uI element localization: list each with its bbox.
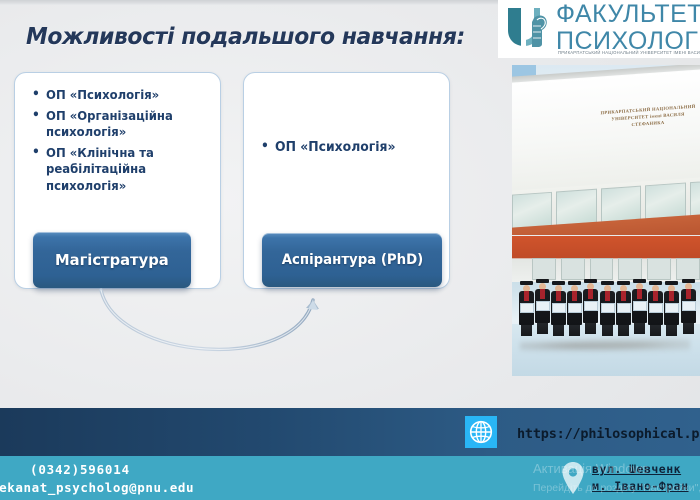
background-window	[647, 258, 671, 280]
graduate-stole	[621, 291, 626, 301]
building-window	[690, 179, 700, 216]
graduate-legs	[666, 325, 677, 336]
graduate-legs	[602, 325, 613, 336]
graduate-gown	[616, 291, 631, 325]
logo-wordmark: ФАКУЛЬТЕТ ПСИХОЛОГІЇ	[556, 2, 700, 54]
graduate-figure	[615, 281, 631, 336]
graduate-legs	[618, 325, 629, 336]
graduate-legs	[521, 325, 532, 336]
graduate-figure	[599, 281, 615, 336]
building-window	[512, 192, 552, 229]
graduate-figure	[534, 279, 550, 334]
building-window	[645, 182, 685, 219]
building-window	[556, 189, 596, 226]
curved-arrow-icon	[95, 278, 360, 383]
graduate-legs	[585, 323, 596, 334]
page-title: Можливості подальшого навчання:	[26, 22, 465, 50]
graduate-gown	[600, 291, 615, 325]
presentation-slide: Можливості подальшого навчання: ОП «Псих…	[0, 0, 700, 500]
graduates-group-photo	[512, 236, 700, 376]
graduate-figure	[567, 281, 583, 336]
graduate-stole	[588, 289, 593, 299]
graduate-stole	[686, 289, 691, 299]
graduate-legs	[634, 323, 645, 334]
graduate-gown	[632, 289, 647, 323]
diploma-icon	[552, 303, 566, 313]
chip-masters-label: Магістратура	[55, 251, 169, 269]
graduate-gown	[583, 289, 598, 323]
diploma-icon	[665, 303, 679, 313]
list-item: ОП «Клінічна та реабілітаційна психологі…	[31, 145, 201, 195]
graduate-legs	[569, 325, 580, 336]
diploma-icon	[520, 303, 534, 313]
background-window	[532, 258, 556, 280]
list-item: ОП «Психологія»	[31, 87, 201, 104]
globe-glyph	[468, 419, 494, 445]
background-window	[590, 258, 614, 280]
website-url[interactable]: https://philosophical.pn	[517, 426, 700, 442]
graduate-figure	[648, 281, 664, 336]
globe-icon[interactable]	[465, 416, 497, 448]
graduate-stole	[540, 289, 545, 299]
graduate-figure	[550, 281, 566, 336]
location-pin-icon	[560, 461, 586, 495]
phd-program-list: ОП «Психологія»	[244, 73, 449, 157]
address-city: м. Івано-Фран	[592, 479, 689, 493]
diploma-icon	[633, 301, 647, 311]
graduate-figure	[518, 281, 534, 336]
graduate-figure	[680, 279, 696, 334]
graduate-stole	[605, 291, 610, 301]
graduate-figure	[583, 279, 599, 334]
graduate-gown	[535, 289, 550, 323]
graduate-stole	[572, 291, 577, 301]
graduate-legs	[553, 325, 564, 336]
graduate-figure	[631, 279, 647, 334]
diploma-icon	[601, 303, 615, 313]
graduate-gown	[664, 291, 679, 325]
graduate-gown	[681, 289, 696, 323]
diploma-icon	[584, 301, 598, 311]
graduate-legs	[683, 323, 694, 334]
psi-hand-logo-icon	[504, 4, 556, 50]
list-item: ОП «Психологія»	[260, 139, 430, 157]
faculty-logo: ФАКУЛЬТЕТ ПСИХОЛОГІЇ ПРИКАРПАТСЬКИЙ НАЦІ…	[498, 0, 700, 58]
graduate-gown	[567, 291, 582, 325]
graduate-stole	[653, 291, 658, 301]
diploma-icon	[617, 303, 631, 313]
graduate-gown	[551, 291, 566, 325]
building-window	[601, 186, 641, 223]
diploma-icon	[568, 303, 582, 313]
graduate-legs	[537, 323, 548, 334]
graduate-stole	[637, 289, 642, 299]
diploma-icon	[536, 301, 550, 311]
background-window	[676, 258, 700, 280]
university-building-photo: ПРИКАРПАТСЬКИЙ НАЦІОНАЛЬНИЙ УНІВЕРСИТЕТ …	[512, 65, 700, 235]
graduate-legs	[650, 325, 661, 336]
list-item: ОП «Організаційна психологія»	[31, 108, 201, 141]
photo-background-windows	[532, 258, 700, 280]
diploma-icon	[649, 303, 663, 313]
graduate-gown	[519, 291, 534, 325]
background-window	[618, 258, 642, 280]
graduate-gown	[648, 291, 663, 325]
address-street: вул. Шевченк	[592, 462, 681, 476]
graduate-stole	[556, 291, 561, 301]
graduate-stole	[669, 291, 674, 301]
background-window	[561, 258, 585, 280]
masters-program-list: ОП «Психологія» ОП «Організаційна психол…	[15, 73, 220, 194]
graduate-figure	[664, 281, 680, 336]
graduate-stole	[524, 291, 529, 301]
logo-line-1: ФАКУЛЬТЕТ	[556, 2, 700, 27]
phone-number: (0342)596014	[30, 462, 130, 477]
email-address: dekanat_psycholog@pnu.edu	[0, 480, 194, 495]
diploma-icon	[682, 301, 696, 311]
chip-phd-label: Аспірантура (PhD)	[281, 252, 423, 268]
logo-subtitle: ПРИКАРПАТСЬКИЙ НАЦІОНАЛЬНИЙ УНІВЕРСИТЕТ …	[558, 50, 700, 55]
